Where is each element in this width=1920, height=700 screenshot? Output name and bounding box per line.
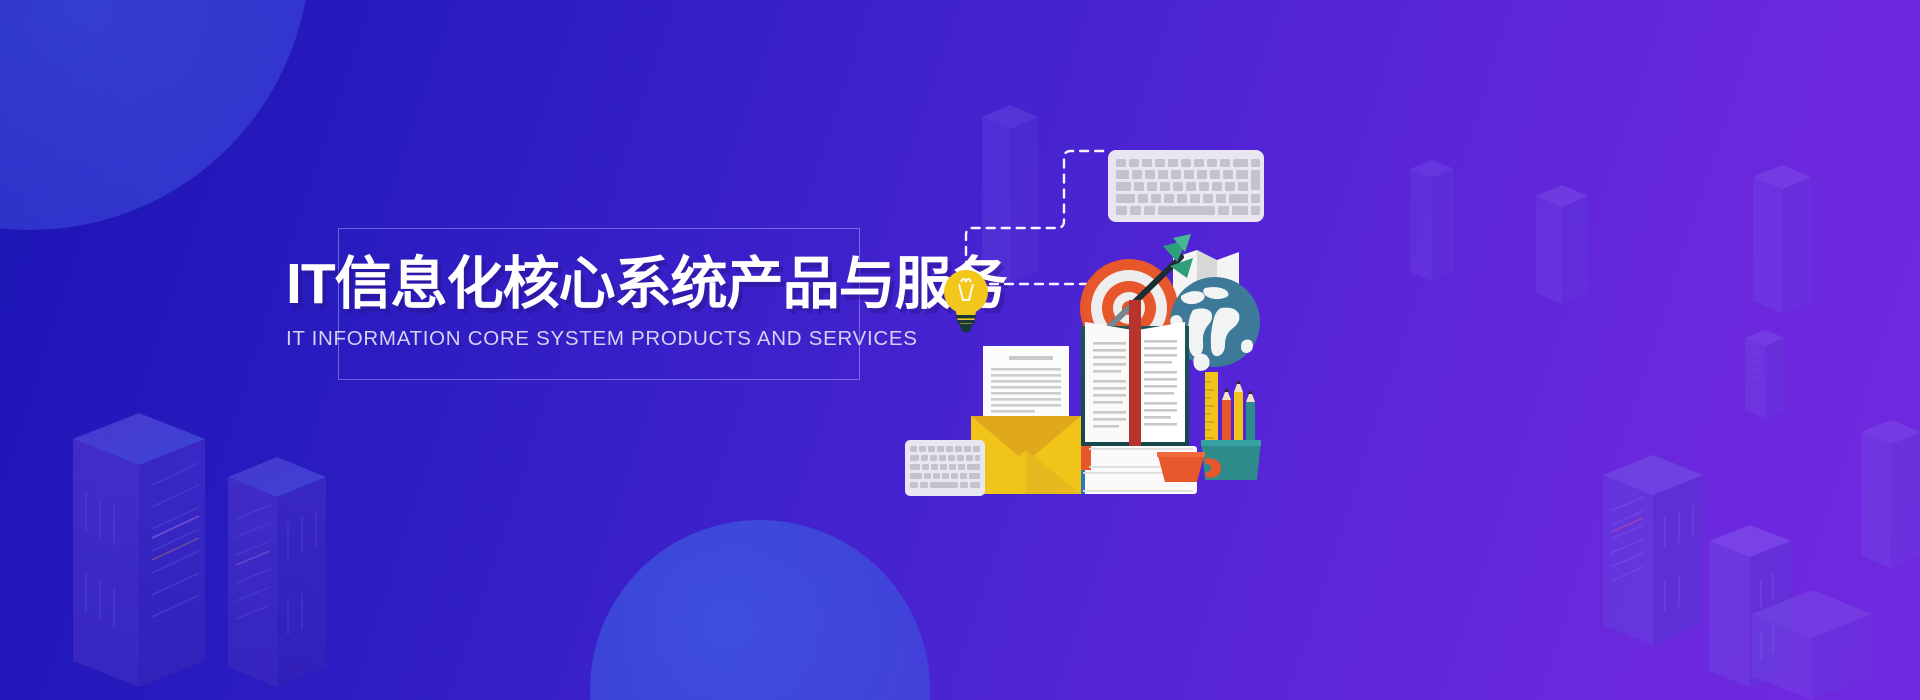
soft-circle-bottom-center xyxy=(590,520,930,700)
banner-text-block: IT信息化核心系统产品与服务 IT INFORMATION CORE SYSTE… xyxy=(286,255,906,351)
illustration-cluster xyxy=(905,110,1285,480)
isometric-building-8 xyxy=(1861,420,1920,580)
lightbulb-icon xyxy=(944,270,988,333)
open-book-icon xyxy=(1081,300,1189,462)
isometric-building-1 xyxy=(73,413,205,700)
soft-circle-top-left xyxy=(0,0,310,230)
isometric-building-10 xyxy=(1410,160,1454,290)
envelope-icon xyxy=(971,346,1081,494)
isometric-building-7 xyxy=(1745,330,1785,426)
hero-banner: IT信息化核心系统产品与服务 IT INFORMATION CORE SYSTE… xyxy=(0,0,1920,700)
keyboard-secondary-icon xyxy=(905,440,985,496)
isometric-building-2 xyxy=(228,457,326,700)
isometric-building-3 xyxy=(1603,455,1703,665)
isometric-building-11 xyxy=(1752,590,1872,700)
isometric-building-5 xyxy=(1753,165,1811,325)
page-subtitle: IT INFORMATION CORE SYSTEM PRODUCTS AND … xyxy=(286,327,906,351)
page-title: IT信息化核心系统产品与服务 xyxy=(286,255,906,315)
isometric-building-6 xyxy=(1536,185,1588,315)
dashed-connector xyxy=(966,151,1110,284)
keyboard-icon xyxy=(1108,150,1264,222)
